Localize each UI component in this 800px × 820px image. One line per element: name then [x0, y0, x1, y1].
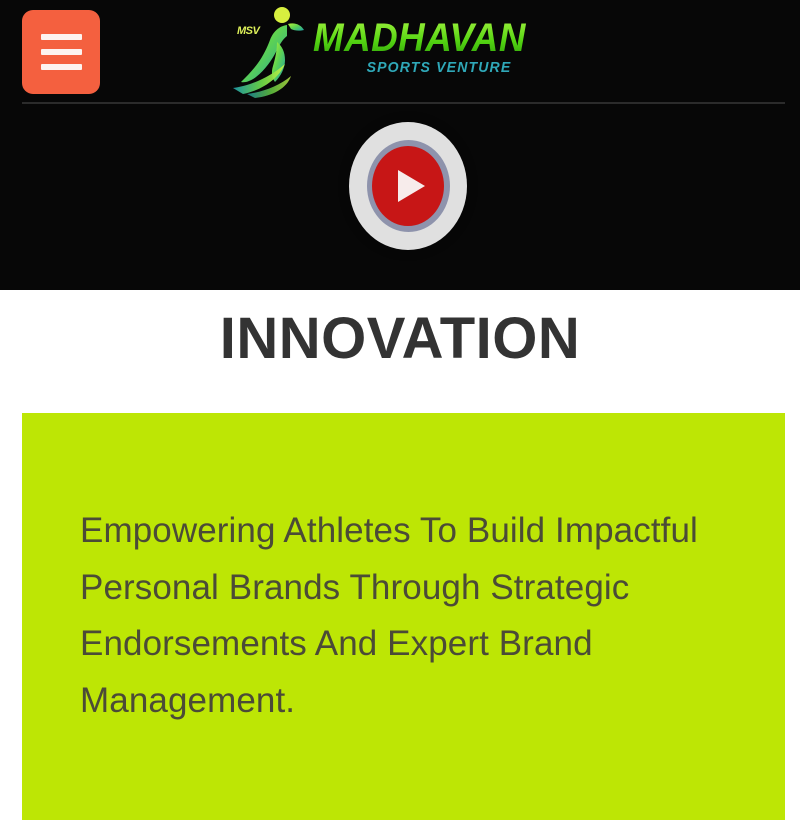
logo-msv-abbreviation: MSV [237, 26, 259, 37]
play-icon [398, 170, 425, 202]
brand-logo[interactable]: MSV MADHAVAN SPORTS VENTURE [225, 2, 565, 100]
hamburger-icon-bar-1 [41, 34, 82, 40]
page-title: INNOVATION [0, 310, 800, 368]
hamburger-icon-bar-3 [41, 64, 82, 70]
hamburger-menu-button[interactable] [22, 10, 100, 94]
video-stage [0, 104, 800, 290]
statement-panel-text: Empowering Athletes To Build Impactful P… [80, 503, 720, 730]
site-header: MSV MADHAVAN SPORTS VENTURE [0, 0, 800, 103]
athlete-runner-icon: MSV [225, 2, 325, 100]
hero-section: MSV MADHAVAN SPORTS VENTURE [0, 0, 800, 290]
page-root: MSV MADHAVAN SPORTS VENTURE INNOVATIO [0, 0, 800, 820]
video-play-button[interactable] [349, 122, 467, 250]
play-button-ring [367, 140, 450, 232]
logo-title: MADHAVAN [313, 20, 545, 58]
play-button-core [372, 146, 444, 226]
hamburger-icon-bar-2 [41, 49, 82, 55]
logo-wordmark: MADHAVAN SPORTS VENTURE [313, 20, 565, 76]
logo-subtitle: SPORTS VENTURE [321, 59, 558, 76]
statement-panel: Empowering Athletes To Build Impactful P… [22, 413, 785, 820]
main-content: INNOVATION Empowering Athletes To Build … [0, 290, 800, 820]
